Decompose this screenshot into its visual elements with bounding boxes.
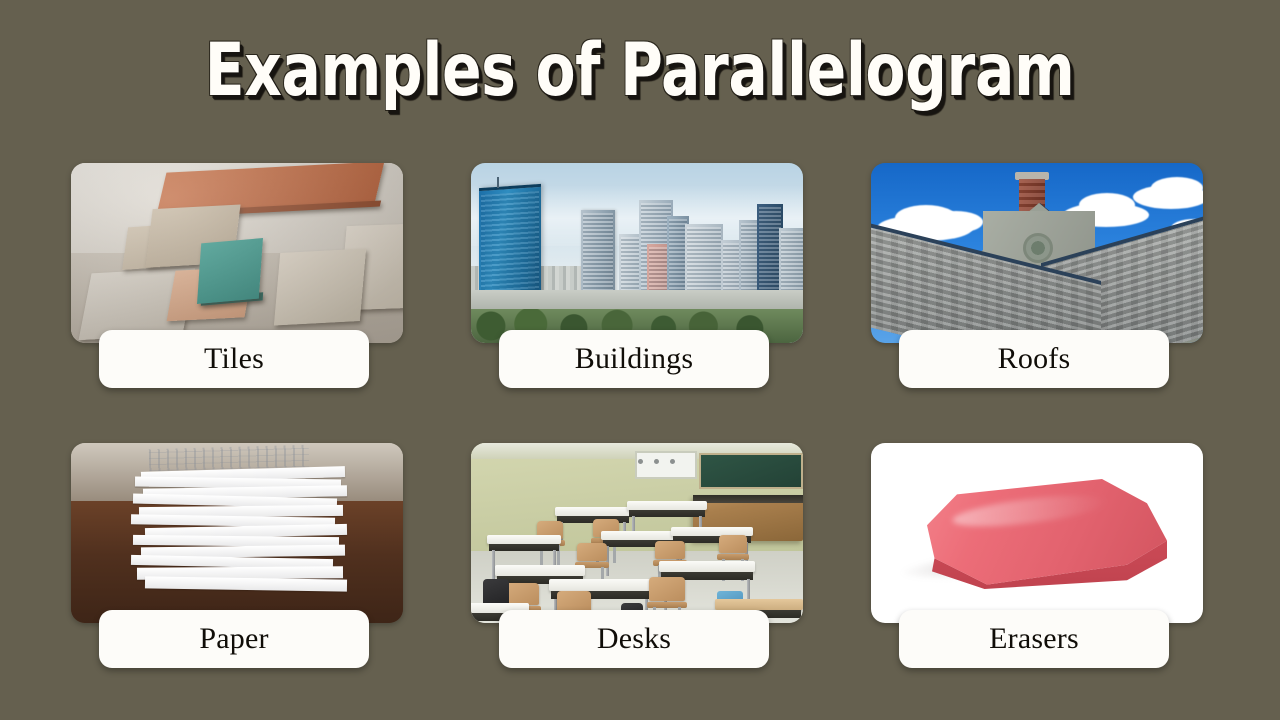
desks-illustration [471, 443, 803, 623]
example-card-tiles[interactable]: Tiles [62, 163, 406, 393]
label-plate-tiles[interactable]: Tiles [99, 330, 369, 388]
card-label-paper: Paper [199, 624, 268, 654]
tiles-photo [71, 163, 403, 343]
label-plate-desks[interactable]: Desks [499, 610, 769, 668]
card-label-tiles: Tiles [204, 344, 264, 374]
example-card-buildings[interactable]: Buildings [462, 163, 806, 393]
tiles-illustration [71, 163, 403, 343]
label-plate-buildings[interactable]: Buildings [499, 330, 769, 388]
example-card-desks[interactable]: Desks [462, 443, 806, 673]
card-label-roofs: Roofs [998, 344, 1071, 374]
example-card-roofs[interactable]: Roofs [862, 163, 1206, 393]
erasers-photo [871, 443, 1203, 623]
examples-grid: Tiles [0, 150, 1280, 695]
example-card-paper[interactable]: Paper [62, 443, 406, 673]
buildings-illustration [471, 163, 803, 343]
desks-photo [471, 443, 803, 623]
label-plate-paper[interactable]: Paper [99, 610, 369, 668]
card-label-buildings: Buildings [575, 344, 694, 374]
roofs-illustration [871, 163, 1203, 343]
roofs-photo [871, 163, 1203, 343]
buildings-photo [471, 163, 803, 343]
card-label-erasers: Erasers [989, 624, 1079, 654]
page-title: Examples of Parallelogram [205, 34, 1075, 107]
card-label-desks: Desks [597, 624, 671, 654]
example-card-erasers[interactable]: Erasers [862, 443, 1206, 673]
label-plate-erasers[interactable]: Erasers [899, 610, 1169, 668]
paper-illustration [71, 443, 403, 623]
label-plate-roofs[interactable]: Roofs [899, 330, 1169, 388]
eraser-illustration [871, 443, 1203, 623]
title-bar: Examples of Parallelogram [0, 0, 1280, 140]
paper-photo [71, 443, 403, 623]
